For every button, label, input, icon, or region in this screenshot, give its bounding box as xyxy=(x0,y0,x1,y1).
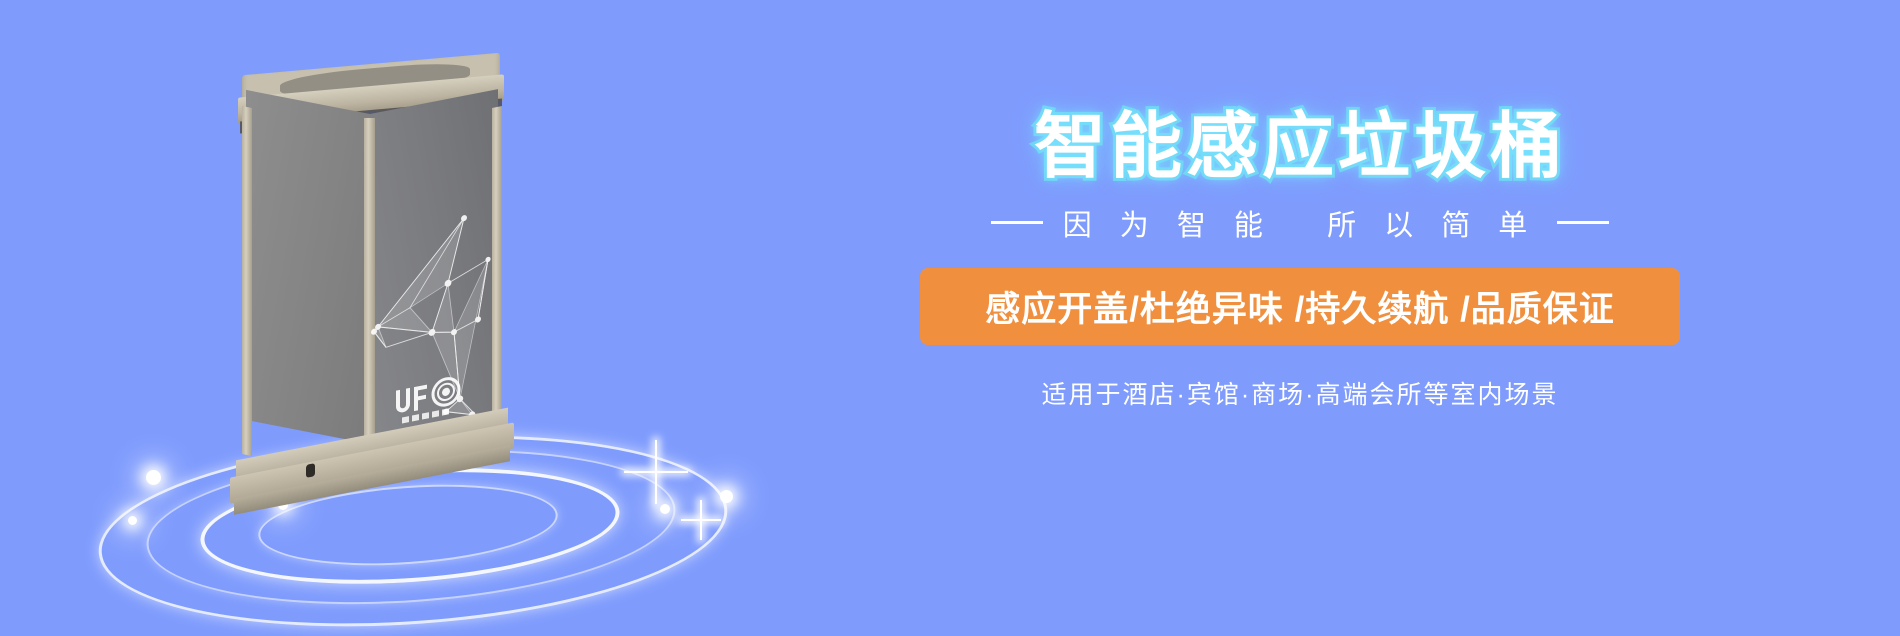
subline-rule-right xyxy=(1557,221,1609,224)
sparkle-star-icon xyxy=(655,440,657,504)
subline-text: 因 为 智 能 所 以 简 单 xyxy=(1063,202,1538,244)
bin-sensor-icon xyxy=(306,463,315,478)
sparkle-dot-icon xyxy=(720,490,733,503)
bin-edge-pillar-left xyxy=(242,106,252,456)
headline: 智能感应垃圾桶 xyxy=(880,110,1720,186)
bin-face-left xyxy=(246,90,370,444)
subline-rule-left xyxy=(991,221,1043,224)
sparkle-star-icon xyxy=(700,500,702,540)
sparkle-dot-icon xyxy=(146,470,161,485)
sparkle-dot-icon xyxy=(660,504,670,514)
subline: 因 为 智 能 所 以 简 单 xyxy=(880,202,1720,244)
product-stage xyxy=(60,0,820,636)
use-case-line: 适用于酒店·宾馆·商场·高端会所等室内场景 xyxy=(880,375,1720,411)
feature-tag-bar: 感应开盖/杜绝异味 /持久续航 /品质保证 xyxy=(920,268,1680,345)
product-promo-banner: 智能感应垃圾桶 因 为 智 能 所 以 简 单 感应开盖/杜绝异味 /持久续航 … xyxy=(0,0,1900,636)
sparkle-dot-icon xyxy=(128,516,137,525)
copy-block: 智能感应垃圾桶 因 为 智 能 所 以 简 单 感应开盖/杜绝异味 /持久续航 … xyxy=(880,110,1720,411)
feature-tag-text: 感应开盖/杜绝异味 /持久续航 /品质保证 xyxy=(985,290,1615,329)
